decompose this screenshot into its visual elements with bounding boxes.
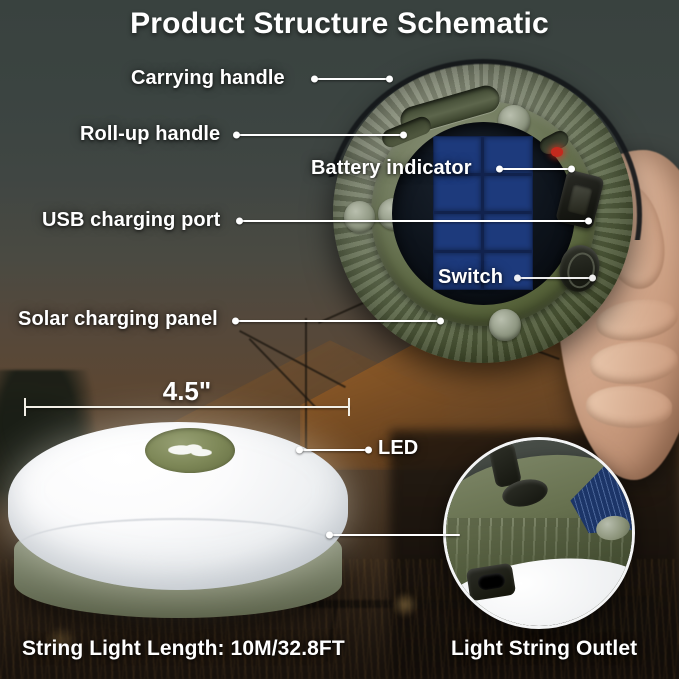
screw-left: [344, 201, 376, 233]
dimension-line: [24, 406, 350, 408]
callout-label-usb-charging-port: USB charging port: [42, 209, 220, 232]
page-title: Product Structure Schematic: [0, 7, 679, 41]
brand-logo-badge: [145, 428, 235, 473]
solar-cell: [434, 176, 482, 212]
callout-label-solar-panel: Solar charging panel: [18, 308, 218, 331]
infographic-canvas: Product Structure Schematic Carrying han…: [0, 0, 679, 679]
leader-line-usb-charging-port: [238, 220, 590, 222]
leader-line-led-lower: [328, 534, 460, 536]
lantern-top-view: [333, 63, 633, 363]
leader-line-led: [298, 449, 370, 451]
battery-indicator-led: [551, 147, 564, 157]
callout-label-switch: Switch: [438, 266, 503, 289]
callout-label-carrying-handle: Carrying handle: [131, 67, 285, 90]
callout-label-battery-indicator: Battery indicator: [311, 157, 472, 180]
leader-line-carrying-handle: [313, 78, 391, 80]
callout-label-roll-up-handle: Roll-up handle: [80, 123, 220, 146]
leader-line-battery-indicator: [498, 168, 573, 170]
dimension-label: 4.5": [0, 376, 374, 407]
leader-line-solar-panel: [234, 320, 442, 322]
callout-label-led: LED: [378, 437, 418, 460]
dome-seam-line: [18, 518, 338, 576]
light-string-outlet-inset: [443, 437, 635, 629]
screw-bottom: [489, 309, 521, 341]
string-light-length-label: String Light Length: 10M/32.8FT: [22, 637, 345, 661]
leader-line-switch: [516, 277, 594, 279]
inset-caption-label: Light String Outlet: [451, 637, 637, 661]
brand-logo-mark: [168, 441, 212, 461]
leader-line-roll-up-handle: [235, 134, 405, 136]
solar-cell: [484, 176, 532, 212]
